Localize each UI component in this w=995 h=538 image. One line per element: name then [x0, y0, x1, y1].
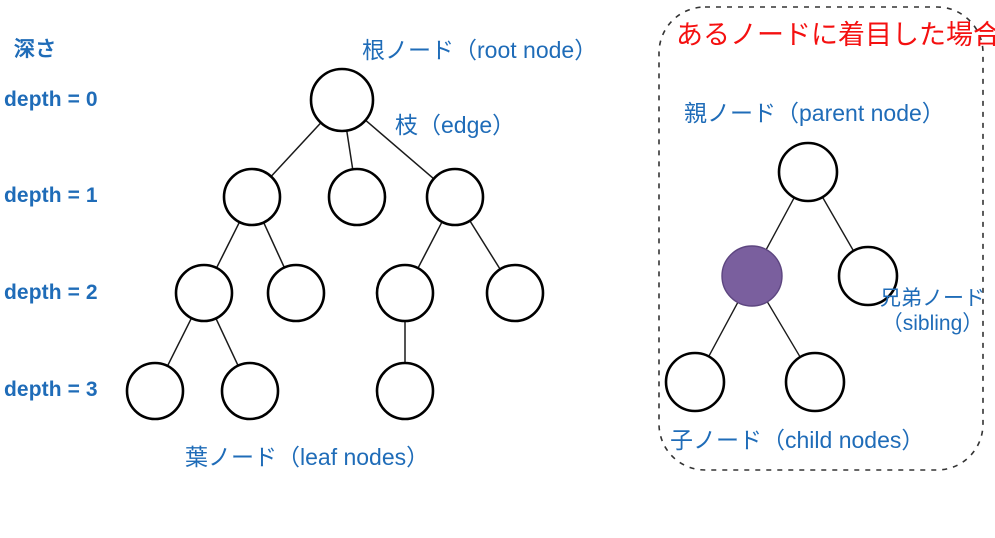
- sibling-label-line-2: （sibling）: [880, 312, 985, 337]
- sibling-node-label: 兄弟ノード （sibling）: [880, 287, 985, 337]
- tree-node: [779, 143, 837, 201]
- focus-case-title: あるノードに着目した場合: [676, 20, 995, 52]
- tree-edge: [767, 301, 801, 358]
- right-tree-nodes: [666, 143, 897, 411]
- tree-edge: [822, 196, 854, 251]
- sibling-label-line-1: 兄弟ノード: [880, 287, 985, 312]
- tree-edge: [708, 302, 738, 358]
- tree-edge: [766, 197, 795, 251]
- child-nodes-label: 子ノード（child nodes）: [670, 427, 924, 454]
- parent-node-label: 親ノード（parent node）: [684, 100, 945, 127]
- right-panel-graphics: [0, 0, 995, 538]
- tree-node: [666, 353, 724, 411]
- tree-node-highlighted: [722, 246, 782, 306]
- tree-node: [786, 353, 844, 411]
- diagram-canvas: 深さ depth = 0 depth = 1 depth = 2 depth =…: [0, 0, 995, 538]
